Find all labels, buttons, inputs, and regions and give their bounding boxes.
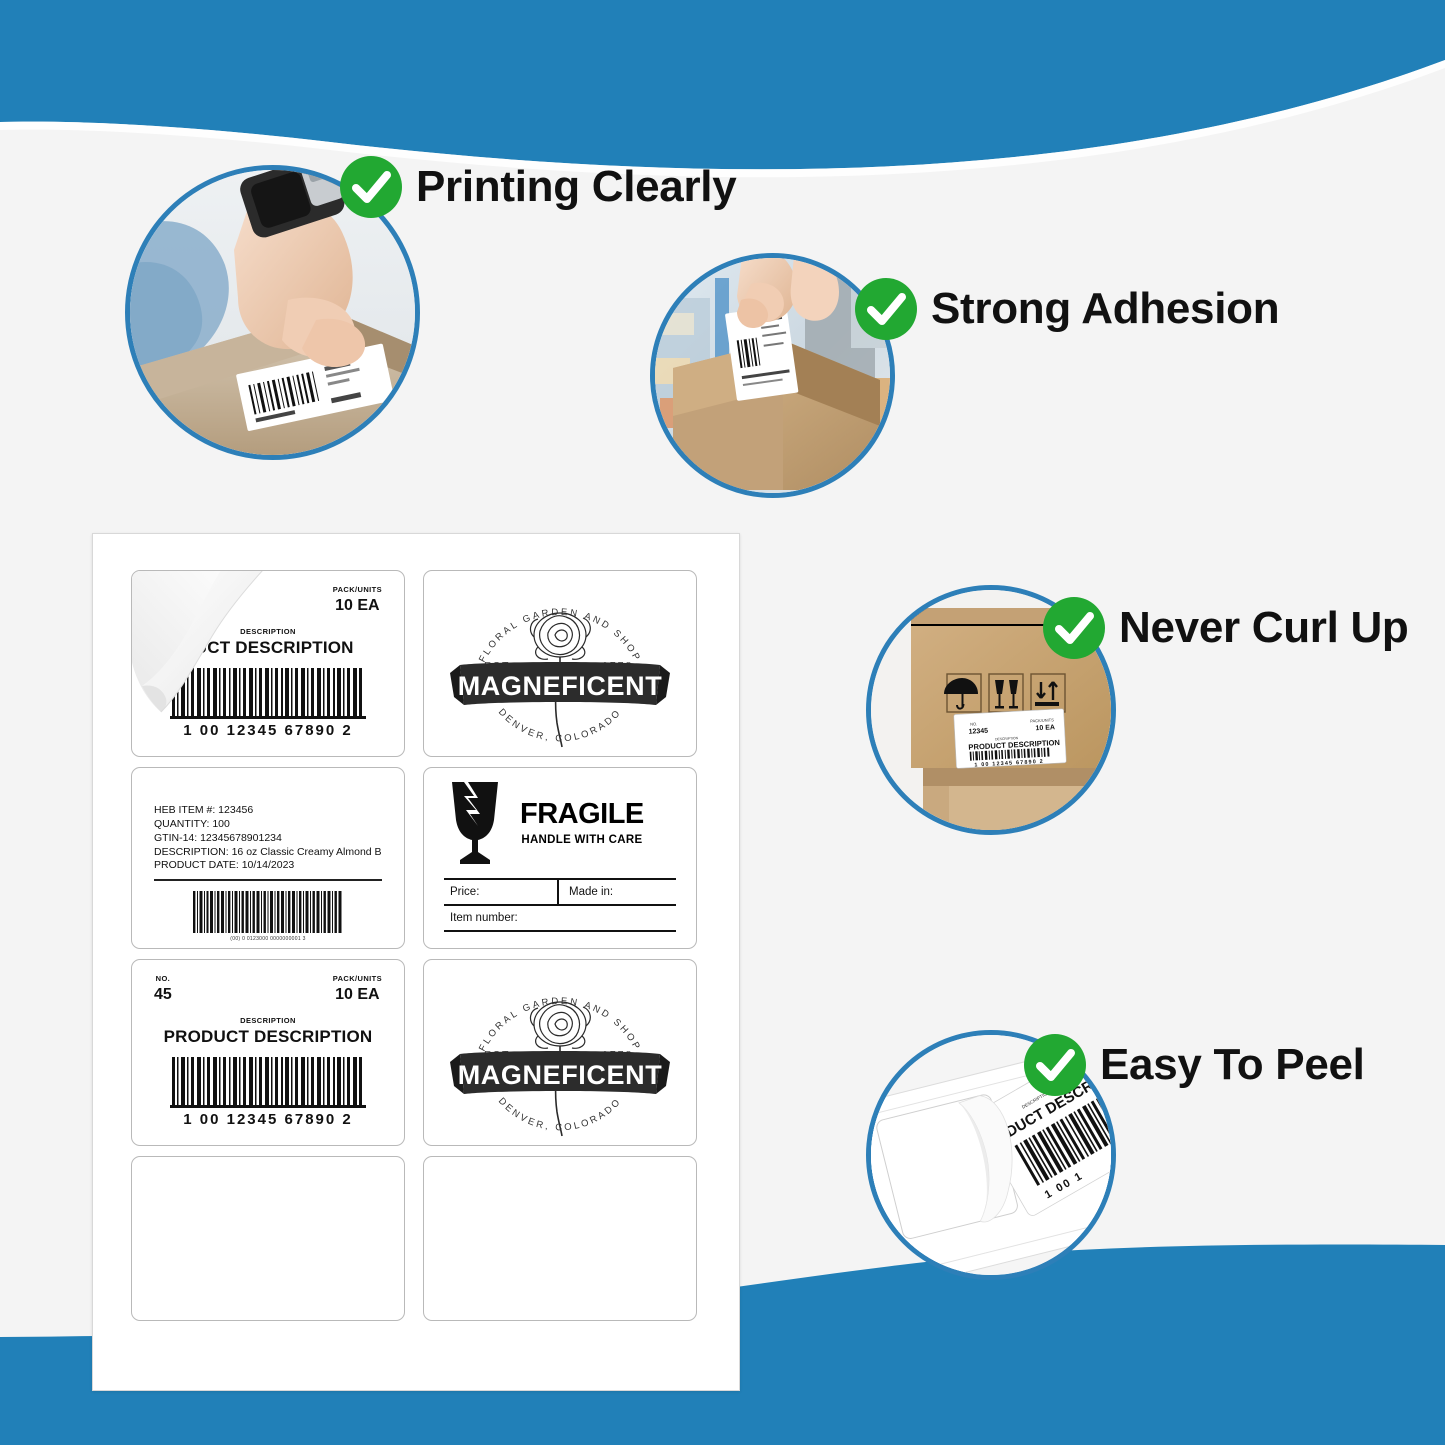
svg-text:DENVER, COLORADO: DENVER, COLORADO bbox=[496, 1096, 624, 1134]
no-caption: NO. bbox=[154, 974, 172, 983]
fragile-item-number-field: Item number: bbox=[444, 906, 676, 930]
label-row3-left[interactable]: NO. 45 PACK/UNITS 10 EA DESCRIPTION PROD… bbox=[131, 959, 405, 1146]
label-no-field: NO. 5 bbox=[154, 585, 169, 615]
barcode-image bbox=[170, 1057, 366, 1109]
pack-value: 10 EA bbox=[333, 986, 382, 1004]
detail-line: PRODUCT DATE: 10/14/2023 bbox=[154, 859, 404, 873]
green-check-icon bbox=[340, 156, 402, 218]
floral-logo-graphic: FLORAL GARDEN AND SHOP EST 1778 bbox=[424, 571, 696, 756]
no-value: 45 bbox=[154, 986, 172, 1004]
description-caption: DESCRIPTION bbox=[132, 627, 404, 636]
label-sheet: NO. 5 PACK/UNITS 10 EA DESCRIPTION DUCT … bbox=[92, 533, 740, 1391]
label-no-field: NO. 45 bbox=[154, 974, 172, 1004]
fragile-title: FRAGILE bbox=[520, 800, 644, 829]
detail-line: DESCRIPTION: 16 oz Classic Creamy Almond… bbox=[154, 846, 404, 860]
feature-title: Never Curl Up bbox=[1119, 606, 1409, 650]
pack-caption: PACK/UNITS bbox=[333, 585, 382, 594]
no-caption: NO. bbox=[154, 585, 169, 594]
detail-lines: HEB ITEM #: 123456 QUANTITY: 100 GTIN-14… bbox=[132, 768, 404, 873]
label-row4-left-blank[interactable] bbox=[131, 1156, 405, 1321]
feature-title: Strong Adhesion bbox=[931, 287, 1279, 331]
feature-heading-printing-clearly: Printing Clearly bbox=[340, 156, 736, 218]
feature-title: Printing Clearly bbox=[416, 165, 736, 209]
detail-line: HEB ITEM #: 123456 bbox=[154, 804, 404, 818]
svg-text:DENVER, COLORADO: DENVER, COLORADO bbox=[496, 707, 624, 745]
description-value: PRODUCT DESCRIPTION bbox=[132, 1027, 404, 1047]
label-row2-left[interactable]: HEB ITEM #: 123456 QUANTITY: 100 GTIN-14… bbox=[131, 767, 405, 949]
label-row1-left[interactable]: NO. 5 PACK/UNITS 10 EA DESCRIPTION DUCT … bbox=[131, 570, 405, 757]
description-value: DUCT DESCRIPTION bbox=[132, 638, 404, 658]
barcode-image bbox=[170, 668, 366, 720]
feature-heading-never-curl-up: Never Curl Up bbox=[1043, 597, 1409, 659]
logo-arc-bottom: DENVER, COLORADO bbox=[496, 707, 624, 745]
fragile-made-in-field: Made in: bbox=[559, 880, 676, 904]
floral-logo-graphic: FLORAL GARDEN AND SHOP EST 1778 bbox=[424, 960, 696, 1145]
green-check-icon bbox=[1024, 1034, 1086, 1096]
no-value: 5 bbox=[154, 597, 169, 615]
logo-arc-bottom: DENVER, COLORADO bbox=[496, 1096, 624, 1134]
green-check-icon bbox=[1043, 597, 1105, 659]
green-check-icon bbox=[855, 278, 917, 340]
barcode-subtext: (00) 0 0123000 0000000001 3 bbox=[132, 936, 404, 942]
feature-title: Easy To Peel bbox=[1100, 1043, 1365, 1087]
label-pack-field: PACK/UNITS 10 EA bbox=[333, 585, 382, 615]
pack-value: 10 EA bbox=[333, 597, 382, 615]
svg-text:10 EA: 10 EA bbox=[1035, 724, 1055, 732]
barcode-digits: 1 00 12345 67890 2 bbox=[132, 1111, 404, 1128]
label-row2-right[interactable]: FRAGILE HANDLE WITH CARE Price: Made in:… bbox=[423, 767, 697, 949]
pack-caption: PACK/UNITS bbox=[333, 974, 382, 983]
rose-illustration bbox=[531, 613, 591, 669]
logo-banner-text: MAGNEFICENT bbox=[458, 671, 663, 701]
detail-line: QUANTITY: 100 bbox=[154, 818, 404, 832]
label-row1-right[interactable]: FLORAL GARDEN AND SHOP EST 1778 bbox=[423, 570, 697, 757]
label-pack-field: PACK/UNITS 10 EA bbox=[333, 974, 382, 1004]
fragile-subtitle: HANDLE WITH CARE bbox=[521, 834, 642, 846]
label-row3-right[interactable]: FLORAL GARDEN AND SHOP EST 1778 bbox=[423, 959, 697, 1146]
infographic-canvas: Printing Clearly bbox=[0, 0, 1445, 1445]
broken-glass-icon bbox=[444, 780, 506, 866]
feature-heading-easy-to-peel: Easy To Peel bbox=[1024, 1034, 1365, 1096]
barcode-image bbox=[193, 891, 343, 933]
fragile-divider bbox=[444, 930, 676, 932]
barcode-digits: 1 00 12345 67890 2 bbox=[132, 722, 404, 739]
detail-divider bbox=[154, 879, 382, 881]
label-row4-right-blank[interactable] bbox=[423, 1156, 697, 1321]
detail-line: GTIN-14: 12345678901234 bbox=[154, 832, 404, 846]
svg-text:NO.: NO. bbox=[970, 721, 977, 726]
svg-text:12345: 12345 bbox=[968, 728, 988, 736]
rose-illustration bbox=[531, 1002, 591, 1058]
feature-heading-strong-adhesion: Strong Adhesion bbox=[855, 278, 1279, 340]
logo-banner-text: MAGNEFICENT bbox=[458, 1060, 663, 1090]
description-caption: DESCRIPTION bbox=[132, 1016, 404, 1025]
fragile-price-field: Price: bbox=[444, 880, 559, 904]
